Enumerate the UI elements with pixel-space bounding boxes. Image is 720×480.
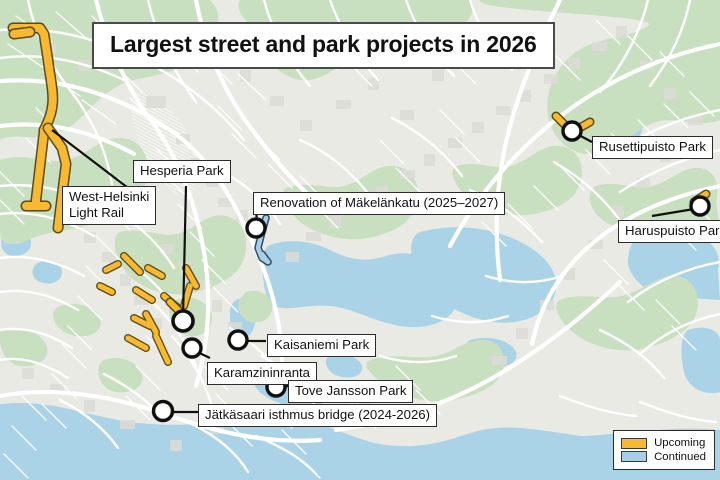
label-hesperia-park[interactable]: Hesperia Park bbox=[133, 160, 231, 183]
legend-label-upcoming: Upcoming bbox=[654, 437, 705, 449]
label-jatkasaari-isthmus-bridge[interactable]: Jätkäsaari isthmus bridge (2024-2026) bbox=[198, 404, 437, 427]
map-screenshot: Largest street and park projects in 2026… bbox=[0, 0, 720, 480]
legend-swatch-upcoming bbox=[621, 438, 647, 449]
legend-label-continued: Continued bbox=[654, 451, 706, 463]
label-line-1: West-Helsinki bbox=[69, 189, 149, 205]
legend: Upcoming Continued bbox=[613, 430, 715, 471]
legend-item-upcoming[interactable]: Upcoming bbox=[621, 437, 706, 449]
page-title: Largest street and park projects in 2026 bbox=[92, 22, 555, 69]
label-kaisaniemi-park[interactable]: Kaisaniemi Park bbox=[267, 334, 376, 357]
label-rusettipuisto-park[interactable]: Rusettipuisto Park bbox=[592, 136, 713, 159]
legend-swatch-continued bbox=[621, 451, 647, 462]
label-line-2: Light Rail bbox=[69, 205, 149, 221]
label-west-helsinki-light-rail[interactable]: West-Helsinki Light Rail bbox=[62, 186, 156, 225]
legend-item-continued[interactable]: Continued bbox=[621, 451, 706, 463]
label-haruspuisto-park[interactable]: Haruspuisto Park bbox=[618, 220, 720, 243]
label-renovation-makelankatu[interactable]: Renovation of Mäkelänkatu (2025–2027) bbox=[253, 192, 505, 215]
label-tove-jansson-park[interactable]: Tove Jansson Park bbox=[288, 380, 413, 403]
